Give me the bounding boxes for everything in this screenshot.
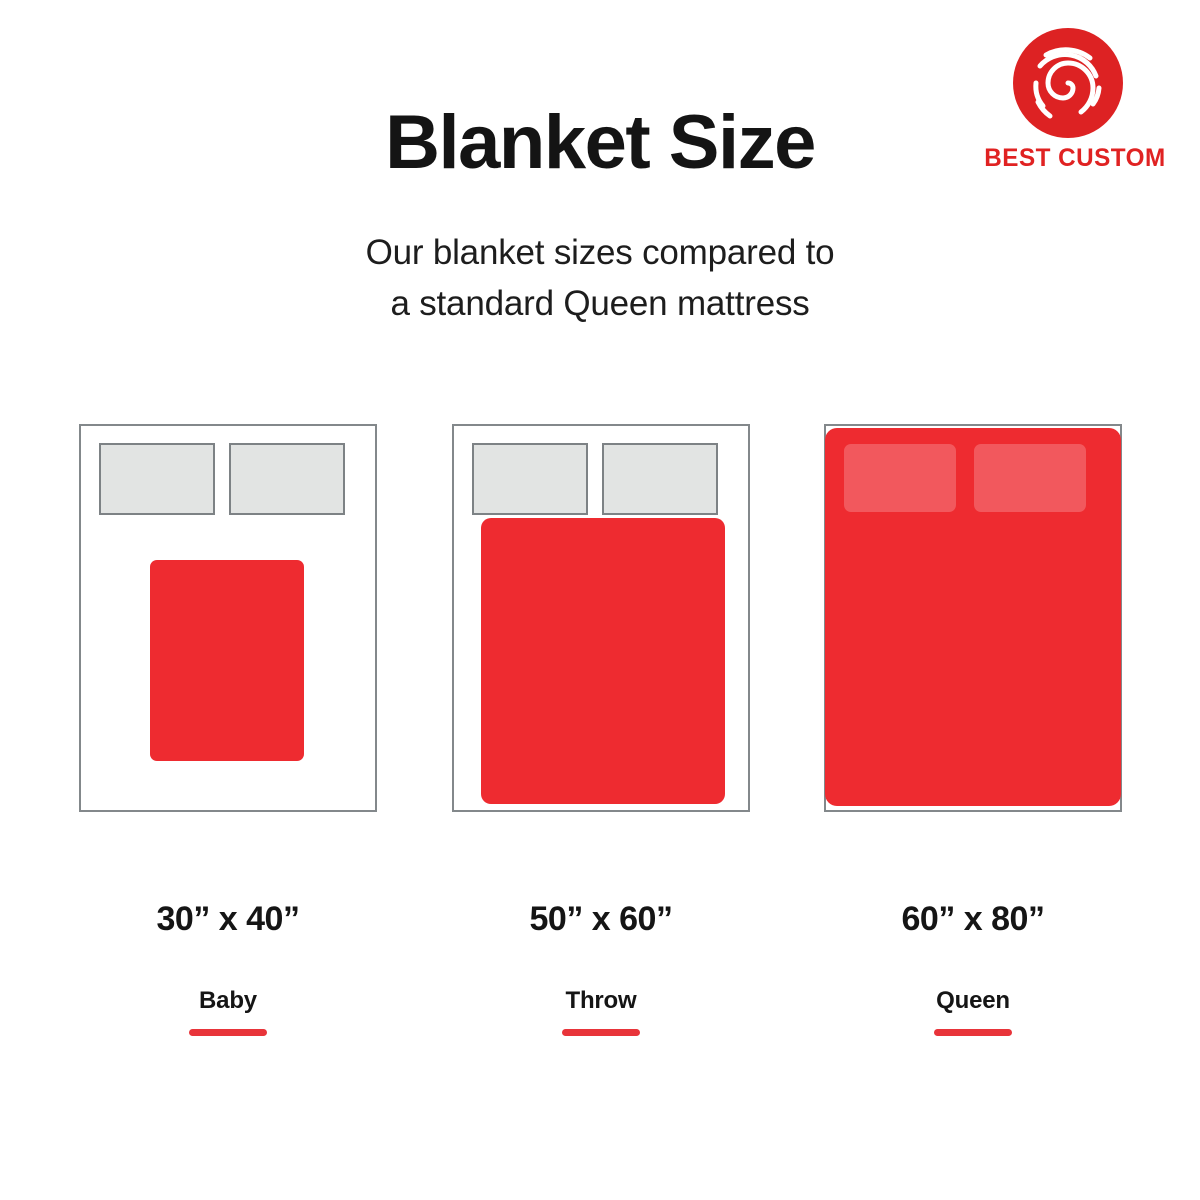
blanket-overlay-throw (481, 518, 725, 804)
accent-underline (562, 1029, 640, 1036)
page-title: Blanket Size (0, 105, 1200, 181)
accent-underline (934, 1029, 1012, 1036)
bed-diagram-queen (824, 424, 1122, 812)
pillow-left-icon (99, 443, 215, 515)
pillow-right-icon (602, 443, 718, 515)
bed-size-name: Queen (824, 987, 1122, 1015)
pillow-left-icon (472, 443, 588, 515)
page-subtitle: Our blanket sizes compared to a standard… (0, 228, 1200, 330)
blanket-overlay-baby (150, 560, 304, 761)
pillow-right-under-blanket-icon (974, 444, 1086, 512)
pillow-right-icon (229, 443, 345, 515)
bed-dimensions: 30” x 40” (79, 900, 377, 939)
blanket-overlay-queen (825, 428, 1121, 806)
accent-underline (189, 1029, 267, 1036)
bed-diagram-throw (452, 424, 750, 812)
page-subtitle-line2: a standard Queen mattress (0, 279, 1200, 330)
page-subtitle-line1: Our blanket sizes compared to (0, 228, 1200, 279)
pillow-left-under-blanket-icon (844, 444, 956, 512)
bed-caption-baby: 30” x 40” Baby (79, 900, 377, 1036)
bed-comparison-row (0, 424, 1200, 814)
bed-diagram-baby (79, 424, 377, 812)
bed-dimensions: 60” x 80” (824, 900, 1122, 939)
bed-caption-throw: 50” x 60” Throw (452, 900, 750, 1036)
bed-size-name: Baby (79, 987, 377, 1015)
bed-dimensions: 50” x 60” (452, 900, 750, 939)
bed-caption-queen: 60” x 80” Queen (824, 900, 1122, 1036)
bed-size-name: Throw (452, 987, 750, 1015)
